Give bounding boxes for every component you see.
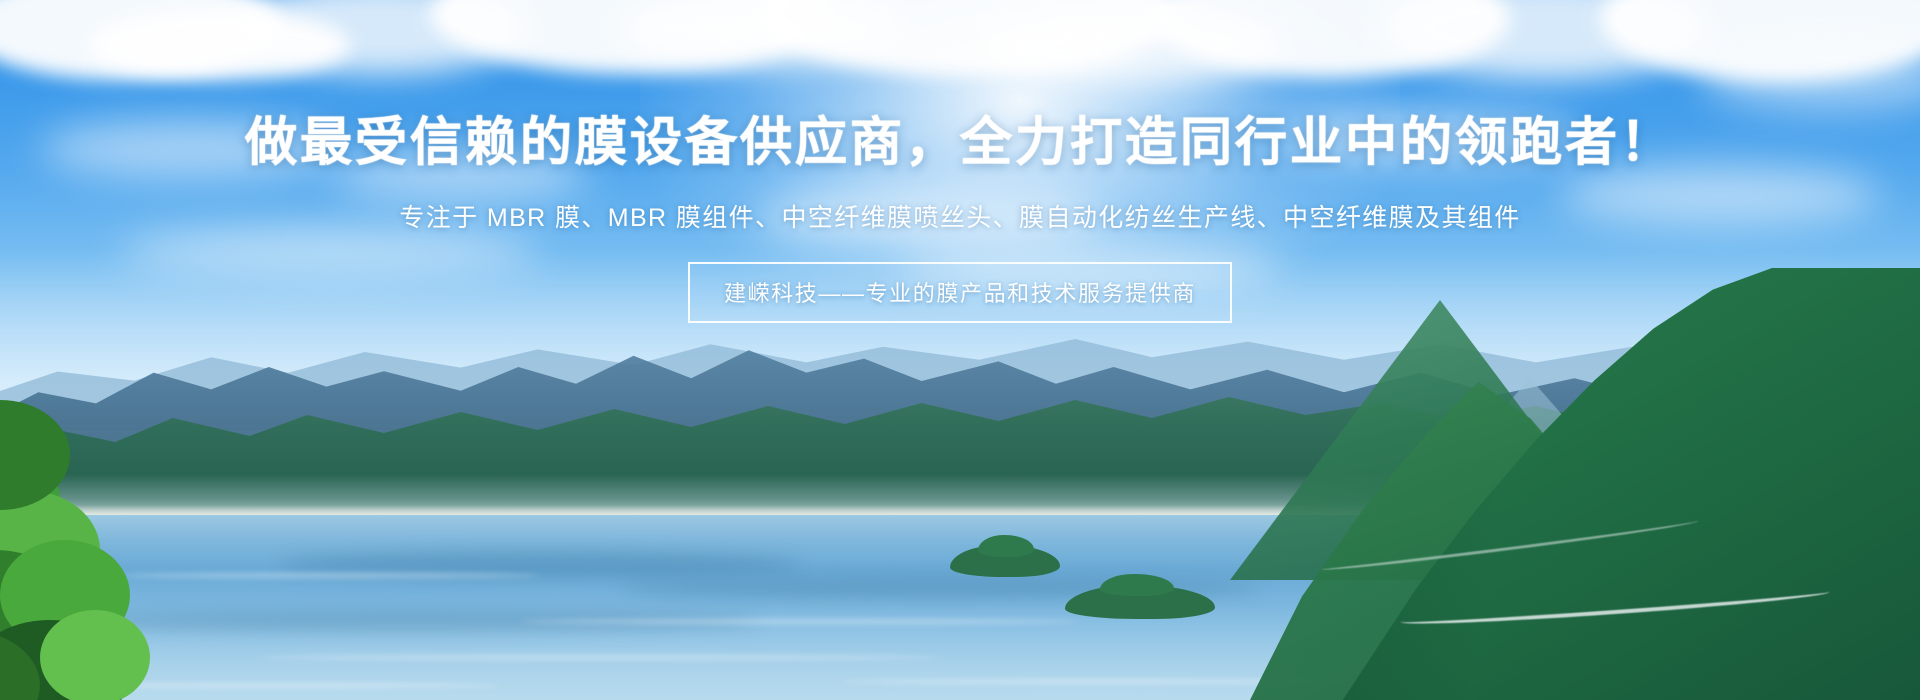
tagline-container: 建嵘科技——专业的膜产品和技术服务提供商 [0,262,1920,323]
hero-banner: 做最受信赖的膜设备供应商，全力打造同行业中的领跑者！ 专注于 MBR 膜、MBR… [0,0,1920,700]
banner-subtitle: 专注于 MBR 膜、MBR 膜组件、中空纤维膜喷丝头、膜自动化纺丝生产线、中空纤… [0,198,1920,234]
banner-tagline-box: 建嵘科技——专业的膜产品和技术服务提供商 [688,262,1232,323]
water-highlight [260,655,940,660]
water-highlight [520,619,1080,624]
foreground-foliage [0,430,230,700]
banner-headline: 做最受信赖的膜设备供应商，全力打造同行业中的领跑者！ [0,114,1920,172]
leaf-cluster [40,610,150,700]
